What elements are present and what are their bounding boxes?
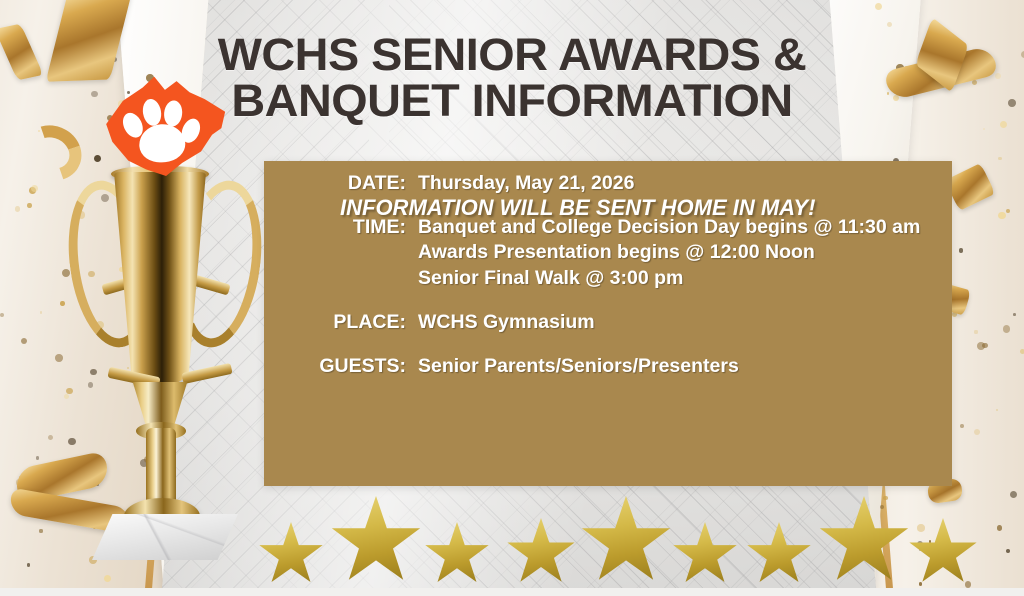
info-row: PLACE:WCHS Gymnasium (264, 310, 952, 336)
gold-star-icon (330, 496, 422, 588)
info-row-subline: Senior Final Walk @ 3:00 pm (418, 266, 952, 292)
info-row-value: WCHS Gymnasium (418, 310, 952, 336)
star-row (0, 484, 1024, 588)
gold-star-icon (506, 518, 576, 588)
gold-star-icon (672, 522, 738, 588)
info-row: GUESTS:Senior Parents/Seniors/Presenters (264, 354, 952, 380)
gold-star-icon (258, 522, 324, 588)
info-row: DATE:Thursday, May 21, 2026 (264, 171, 952, 197)
info-row-value: Senior Parents/Seniors/Presenters (418, 354, 952, 380)
title-line-2: BANQUET INFORMATION (0, 78, 1024, 124)
page-title: WCHS SENIOR AWARDS & BANQUET INFORMATION (0, 32, 1024, 124)
info-row-subline: Awards Presentation begins @ 12:00 Noon (418, 240, 952, 266)
info-row-value-main: WCHS Gymnasium (418, 311, 595, 333)
info-row-value-main: Banquet and College Decision Day begins … (418, 216, 920, 238)
info-row-label: PLACE: (264, 310, 418, 336)
info-row-label: GUESTS: (264, 354, 418, 380)
gold-star-icon (746, 522, 812, 588)
gold-star-icon (424, 522, 490, 588)
bottom-strip (0, 588, 1024, 596)
title-line-1: WCHS SENIOR AWARDS & (0, 32, 1024, 78)
info-row-value: Thursday, May 21, 2026 (418, 171, 952, 197)
info-panel: DATE:Thursday, May 21, 2026TIME:Banquet … (264, 161, 952, 486)
info-row: TIME:Banquet and College Decision Day be… (264, 215, 952, 292)
trophy-cup (114, 172, 206, 387)
info-row-value-main: Thursday, May 21, 2026 (418, 172, 634, 194)
paw-pad (138, 123, 187, 164)
gold-star-icon (580, 496, 672, 588)
gold-star-icon (818, 496, 910, 588)
info-row-value: Banquet and College Decision Day begins … (418, 215, 952, 292)
info-row-label: DATE: (264, 171, 418, 197)
flyer-canvas: WCHS SENIOR AWARDS & BANQUET INFORMATION… (0, 0, 1024, 596)
gold-star-icon (908, 518, 978, 588)
info-rows: DATE:Thursday, May 21, 2026TIME:Banquet … (264, 171, 952, 397)
info-row-label: TIME: (264, 215, 418, 241)
info-row-value-main: Senior Parents/Seniors/Presenters (418, 355, 739, 377)
